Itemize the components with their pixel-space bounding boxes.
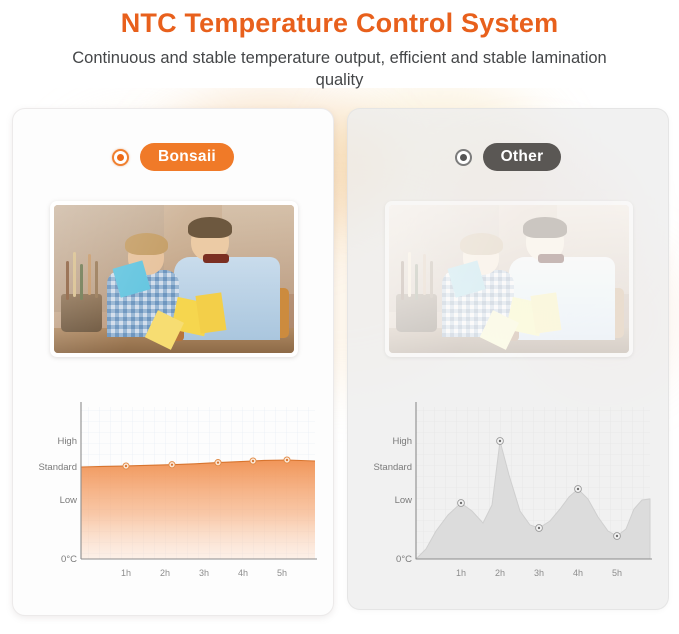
badge-row-bonsaii: Bonsaii [13,143,333,171]
xtick-5h: 5h [277,568,287,578]
ytick-standard-other: Standard [373,462,412,473]
xtick-3h: 3h [199,568,209,578]
panel-bonsaii: Bonsaii [12,108,334,616]
ytick-high-other: High [392,436,412,447]
xtick-2h-other: 2h [495,568,505,578]
page-subtitle: Continuous and stable temperature output… [60,47,620,91]
ytick-low: Low [60,495,78,506]
photo-bonsaii [50,201,298,357]
xtick-2h: 2h [160,568,170,578]
chart-svg-bonsaii: High Standard Low 0°C 1h 2h 3h 4h 5h [33,399,323,589]
xtick-1h-other: 1h [456,568,466,578]
chart-other: High Standard Low 0°C 1h 2h 3h 4h 5h [368,399,658,589]
badge-row-other: Other [348,143,668,171]
ytick-standard: Standard [38,462,77,473]
chart-bonsaii: High Standard Low 0°C 1h 2h 3h 4h 5h [33,399,323,589]
ytick-zero: 0°C [61,554,77,565]
badge-other[interactable]: Other [483,143,562,171]
xtick-5h-other: 5h [612,568,622,578]
comparison-panels: Bonsaii [0,108,679,620]
ytick-high: High [57,436,77,447]
ytick-zero-other: 0°C [396,554,412,565]
photo-other [385,201,633,357]
header: NTC Temperature Control System Continuou… [0,0,679,91]
xtick-4h-other: 4h [573,568,583,578]
xtick-1h: 1h [121,568,131,578]
chart-svg-other: High Standard Low 0°C 1h 2h 3h 4h 5h [368,399,658,589]
page-title: NTC Temperature Control System [0,2,679,40]
badge-bonsaii[interactable]: Bonsaii [140,143,234,171]
radio-bonsaii[interactable] [112,149,129,166]
radio-other[interactable] [455,149,472,166]
xtick-3h-other: 3h [534,568,544,578]
panel-other: Other [347,108,669,610]
ytick-low-other: Low [395,495,413,506]
xtick-4h: 4h [238,568,248,578]
